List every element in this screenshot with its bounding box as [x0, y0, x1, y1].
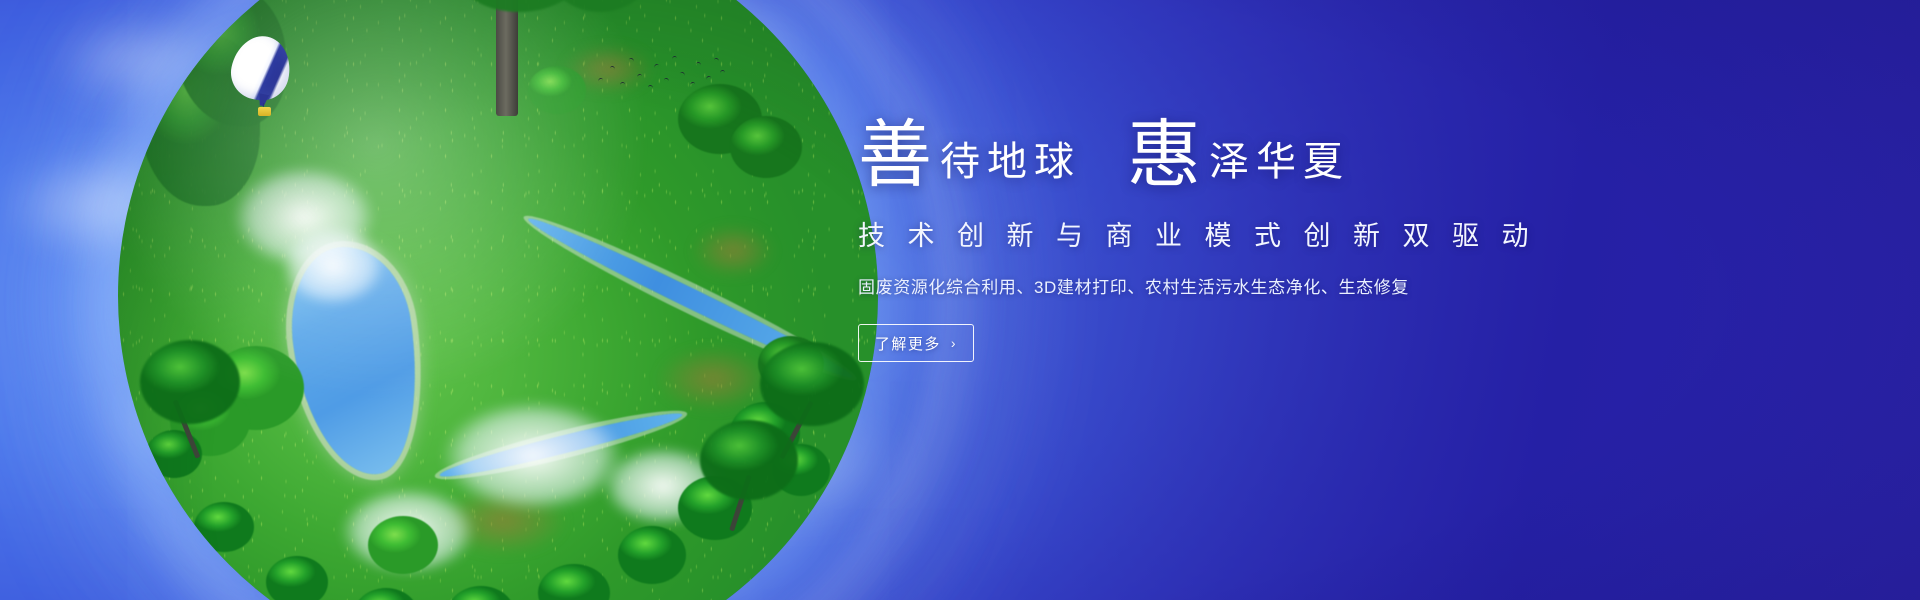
- headline: 善 待地球 惠 泽华夏: [858, 118, 1578, 192]
- description: 固废资源化综合利用、3D建材打印、农村生活污水生态净化、生态修复: [858, 273, 1578, 298]
- chevron-right-icon: ›: [951, 335, 957, 351]
- learn-more-button[interactable]: 了解更多 ›: [858, 324, 974, 362]
- headline-part2-small: 泽华夏: [1201, 142, 1350, 192]
- subtitle: 技 术 创 新 与 商 业 模 式 创 新 双 驱 动: [858, 214, 1578, 253]
- hero-text-block: 善 待地球 惠 泽华夏 技 术 创 新 与 商 业 模 式 创 新 双 驱 动 …: [858, 118, 1578, 362]
- headline-part1-big: 善: [858, 118, 932, 192]
- headline-part1-small: 待地球: [932, 142, 1081, 192]
- hero-banner: 善 待地球 惠 泽华夏 技 术 创 新 与 商 业 模 式 创 新 双 驱 动 …: [0, 0, 1920, 600]
- learn-more-label: 了解更多: [875, 333, 941, 354]
- headline-part2-big: 惠: [1127, 118, 1201, 192]
